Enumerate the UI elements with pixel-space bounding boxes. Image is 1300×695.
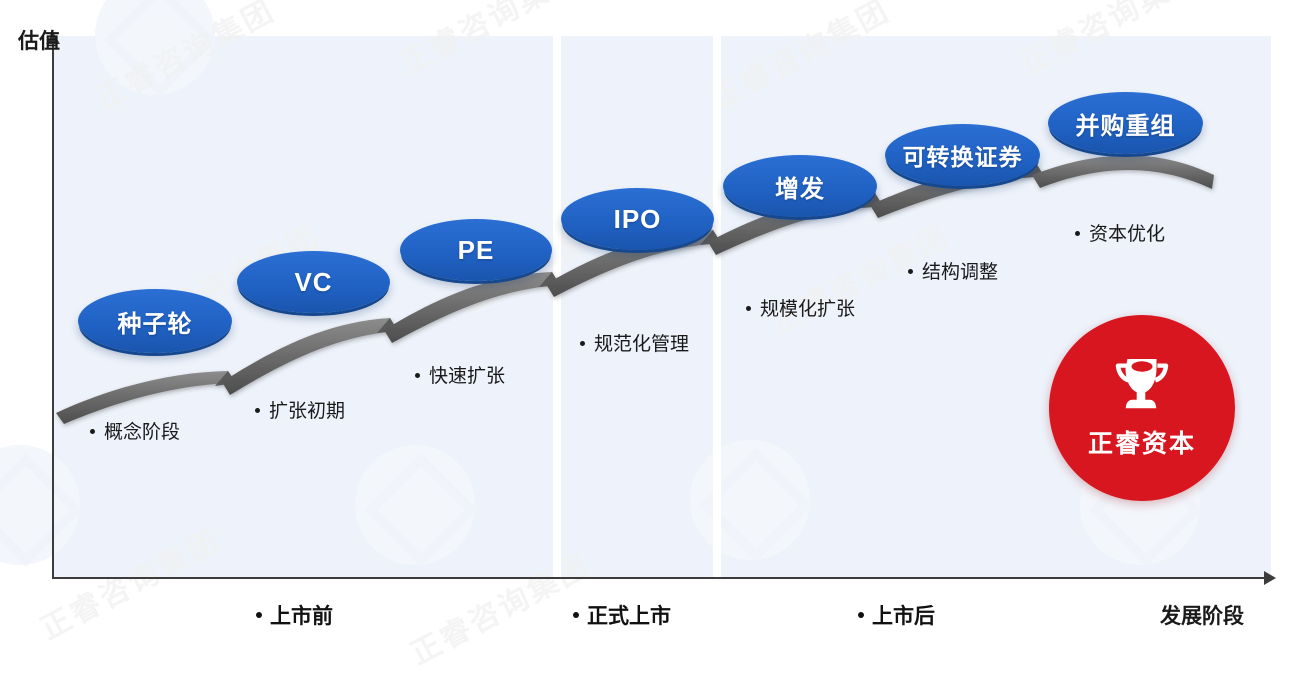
stage-bubble-label: VC <box>294 267 332 298</box>
x-tick-label: 正式上市 <box>587 605 671 628</box>
stage-bubble-seed[interactable]: 种子轮 <box>78 289 232 353</box>
milestone-early-expansion: 扩张初期 <box>255 396 345 423</box>
y-axis <box>52 44 54 579</box>
bullet-dot-icon <box>746 306 751 311</box>
stage-bubble-label: PE <box>458 235 495 266</box>
bullet-dot-icon <box>580 341 585 346</box>
bullet-dot-icon <box>858 612 864 618</box>
stage-bubble-label: 并购重组 <box>1076 106 1176 141</box>
stage-bubble-vc[interactable]: VC <box>237 251 390 313</box>
brand-badge[interactable]: 正睿资本 <box>1049 315 1235 501</box>
milestone-standardized-management: 规范化管理 <box>580 329 689 356</box>
milestone-label: 资本优化 <box>1089 224 1165 245</box>
milestone-capital-optimization: 资本优化 <box>1075 219 1165 246</box>
bullet-dot-icon <box>90 429 95 434</box>
y-axis-label: 估值 <box>18 30 48 54</box>
stage-bubble-ma-restructuring[interactable]: 并购重组 <box>1048 92 1203 154</box>
valuation-growth-stage-diagram: 正睿咨询集团 正睿咨询集团 正睿咨询集团 正睿咨询集团 正睿咨询集团 正睿咨询集… <box>0 0 1300 695</box>
milestone-structural-adjustment: 结构调整 <box>908 257 998 284</box>
milestone-label: 快速扩张 <box>429 366 505 387</box>
bullet-dot-icon <box>573 612 579 618</box>
trophy-icon <box>1109 356 1175 418</box>
milestone-label: 规模化扩张 <box>760 299 855 320</box>
x-axis-arrow-icon <box>1264 571 1276 585</box>
x-axis <box>52 577 1264 579</box>
stage-bubble-label: 种子轮 <box>118 304 193 339</box>
bullet-dot-icon <box>256 612 262 618</box>
milestone-label: 规范化管理 <box>594 334 689 355</box>
milestone-concept-stage: 概念阶段 <box>90 417 180 444</box>
x-tick-post-ipo: 上市后 <box>858 600 935 630</box>
stage-bubble-pe[interactable]: PE <box>400 219 552 281</box>
bullet-dot-icon <box>1075 231 1080 236</box>
stage-bubble-secondary-offering[interactable]: 增发 <box>723 155 877 217</box>
x-axis-label: 发展阶段 <box>1160 600 1244 630</box>
x-tick-listing: 正式上市 <box>573 600 671 630</box>
milestone-label: 概念阶段 <box>104 422 180 443</box>
x-tick-label: 上市后 <box>872 605 935 628</box>
x-tick-label: 上市前 <box>270 605 333 628</box>
milestone-label: 结构调整 <box>922 262 998 283</box>
milestone-label: 扩张初期 <box>269 401 345 422</box>
milestone-rapid-expansion: 快速扩张 <box>415 361 505 388</box>
bullet-dot-icon <box>908 269 913 274</box>
x-tick-pre-ipo: 上市前 <box>256 600 333 630</box>
stage-bubble-label: IPO <box>614 204 662 235</box>
milestone-scaled-expansion: 规模化扩张 <box>746 294 855 321</box>
bullet-dot-icon <box>255 408 260 413</box>
stage-bubble-ipo[interactable]: IPO <box>561 188 714 250</box>
stage-bubble-label: 可转换证券 <box>903 138 1023 172</box>
stage-bubble-convertible-securities[interactable]: 可转换证券 <box>885 124 1040 186</box>
brand-name: 正睿资本 <box>1088 424 1196 460</box>
bullet-dot-icon <box>415 373 420 378</box>
stage-bubble-label: 增发 <box>775 169 825 204</box>
